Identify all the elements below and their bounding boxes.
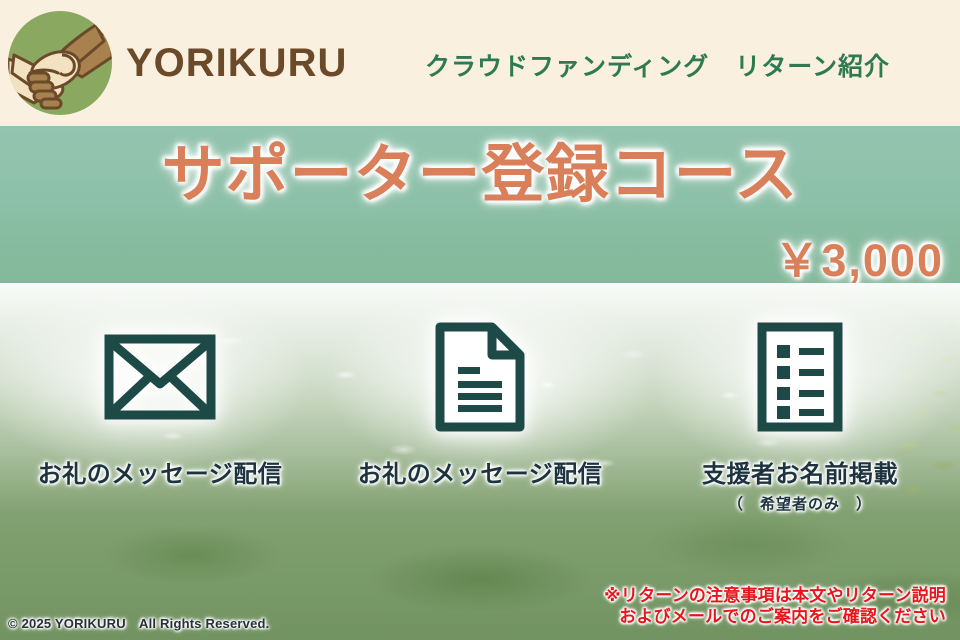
course-price: ￥3,000 — [774, 224, 944, 289]
benefits-row: お礼のメッセージ配信 お礼のメッセージ配信 — [0, 318, 960, 514]
benefit-item-document: お礼のメッセージ配信 — [320, 318, 640, 514]
benefit-label: 支援者お名前掲載 — [702, 454, 898, 489]
return-course-banner: YORIKURU クラウドファンディング リターン紹介 サポーター登録コース ￥… — [0, 0, 960, 640]
benefit-sublabel: （ 希望者のみ ） — [728, 493, 872, 514]
return-notice-line-1: ※リターンの注意事項は本文やリターン説明 — [604, 585, 946, 607]
title-band: サポーター登録コース ￥3,000 — [0, 126, 960, 283]
benefit-item-message: お礼のメッセージ配信 — [0, 318, 320, 514]
checklist-icon — [756, 318, 844, 436]
benefit-item-name-listing: 支援者お名前掲載 （ 希望者のみ ） — [640, 318, 960, 514]
return-notice-line-2: およびメールでのご案内をご確認ください — [604, 606, 946, 628]
benefit-label: お礼のメッセージ配信 — [358, 454, 603, 489]
document-icon — [434, 318, 526, 436]
return-notice: ※リターンの注意事項は本文やリターン説明 およびメールでのご案内をご確認ください — [604, 585, 946, 629]
handshake-icon — [8, 11, 112, 115]
brand-name: YORIKURU — [126, 41, 347, 86]
copyright-text: © 2025 YORIKURU All Rights Reserved. — [8, 613, 269, 632]
header-bar: YORIKURU クラウドファンディング リターン紹介 — [0, 0, 960, 126]
envelope-icon — [104, 318, 216, 436]
course-title: サポーター登録コース — [0, 144, 960, 207]
header-tagline: クラウドファンディング リターン紹介 — [425, 47, 890, 83]
benefit-label: お礼のメッセージ配信 — [38, 454, 283, 489]
